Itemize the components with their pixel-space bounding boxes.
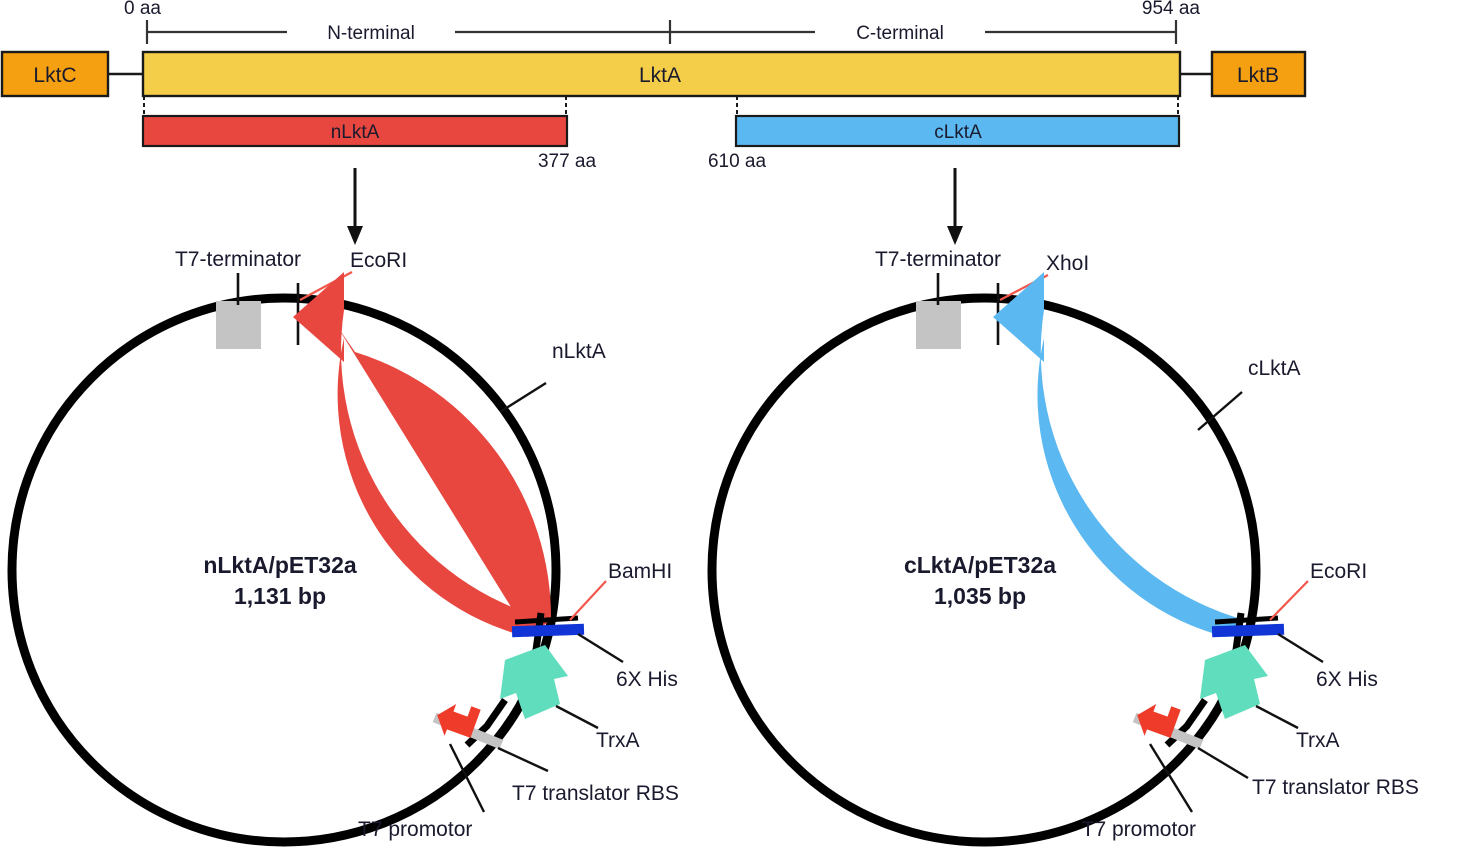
gene-box-lktb-label: LktB bbox=[1237, 64, 1279, 87]
leader-bamhi-nlkta bbox=[570, 581, 606, 620]
label-rbs-clkta: T7 translator RBS bbox=[1252, 776, 1419, 799]
leader-rbs-nlkta bbox=[498, 748, 548, 771]
label-trxa-nlkta: TrxA bbox=[596, 729, 640, 752]
domain-label-c-terminal: C-terminal bbox=[856, 23, 944, 44]
label-trxa-clkta: TrxA bbox=[1296, 729, 1340, 752]
insert-arrow-clkta bbox=[993, 272, 1245, 637]
label-t7-terminator-clkta: T7-terminator bbox=[875, 248, 1001, 271]
scale-label-377: 377 aa bbox=[538, 151, 597, 172]
plasmid-map-nlkta: T7-terminator EcoRI nLktA BamHI 6X His T… bbox=[12, 248, 679, 842]
leader-rbs-clkta bbox=[1198, 748, 1248, 778]
leader-trxa-nlkta bbox=[556, 706, 598, 728]
label-t7-terminator-nlkta: T7-terminator bbox=[175, 248, 301, 271]
label-t7-promotor-clkta: T7 promotor bbox=[1082, 818, 1196, 841]
plasmid-size-nlkta: 1,131 bp bbox=[234, 583, 326, 609]
leader-6xhis-clkta bbox=[1278, 634, 1323, 662]
plasmid-title-clkta: cLktA/pET32a bbox=[904, 552, 1056, 578]
gene-box-lkta-label: LktA bbox=[639, 64, 681, 87]
scale-label-start: 0 aa bbox=[124, 0, 161, 19]
leader-6xhis-nlkta bbox=[578, 634, 623, 662]
plasmid-size-clkta: 1,035 bp bbox=[934, 583, 1026, 609]
label-xhoi-clkta: XhoI bbox=[1046, 252, 1089, 275]
label-ecori-clkta: EcoRI bbox=[1310, 560, 1367, 583]
feature-t7-terminator-clkta bbox=[916, 301, 961, 349]
label-ecori-nlkta: EcoRI bbox=[350, 249, 407, 272]
figure-svg: LktC LktA LktB N-terminal C-terminal 0 a… bbox=[0, 0, 1483, 866]
label-6xhis-clkta: 6X His bbox=[1316, 668, 1378, 691]
plasmid-title-nlkta: nLktA/pET32a bbox=[203, 552, 357, 578]
leader-trxa-clkta bbox=[1256, 706, 1298, 728]
label-insert-clkta: cLktA bbox=[1248, 357, 1301, 380]
figure-canvas: LktC LktA LktB N-terminal C-terminal 0 a… bbox=[0, 0, 1483, 866]
scale-label-610: 610 aa bbox=[708, 151, 767, 172]
leader-insert-nlkta bbox=[500, 383, 546, 412]
label-bamhi-nlkta: BamHI bbox=[608, 560, 672, 583]
fragment-bar-clkta-label: cLktA bbox=[934, 122, 982, 143]
label-rbs-nlkta: T7 translator RBS bbox=[512, 782, 679, 805]
label-t7-promotor-nlkta: T7 promotor bbox=[358, 818, 472, 841]
arrow-to-nlkta-plasmid bbox=[347, 168, 363, 245]
operon-schematic: LktC LktA LktB N-terminal C-terminal 0 a… bbox=[2, 0, 1305, 245]
feature-t7-terminator-nlkta bbox=[216, 301, 261, 349]
arrow-to-clkta-plasmid bbox=[947, 168, 963, 245]
scale-label-end: 954 aa bbox=[1142, 0, 1201, 19]
gene-box-lktc-label: LktC bbox=[33, 64, 76, 87]
fragment-bar-nlkta-label: nLktA bbox=[331, 122, 380, 143]
label-insert-nlkta: nLktA bbox=[552, 340, 606, 363]
plasmid-map-clkta: T7-terminator XhoI cLktA EcoRI 6X His Tr… bbox=[712, 248, 1419, 842]
leader-ecori-clkta bbox=[1270, 581, 1308, 620]
label-6xhis-nlkta: 6X His bbox=[616, 668, 678, 691]
domain-label-n-terminal: N-terminal bbox=[327, 23, 415, 44]
